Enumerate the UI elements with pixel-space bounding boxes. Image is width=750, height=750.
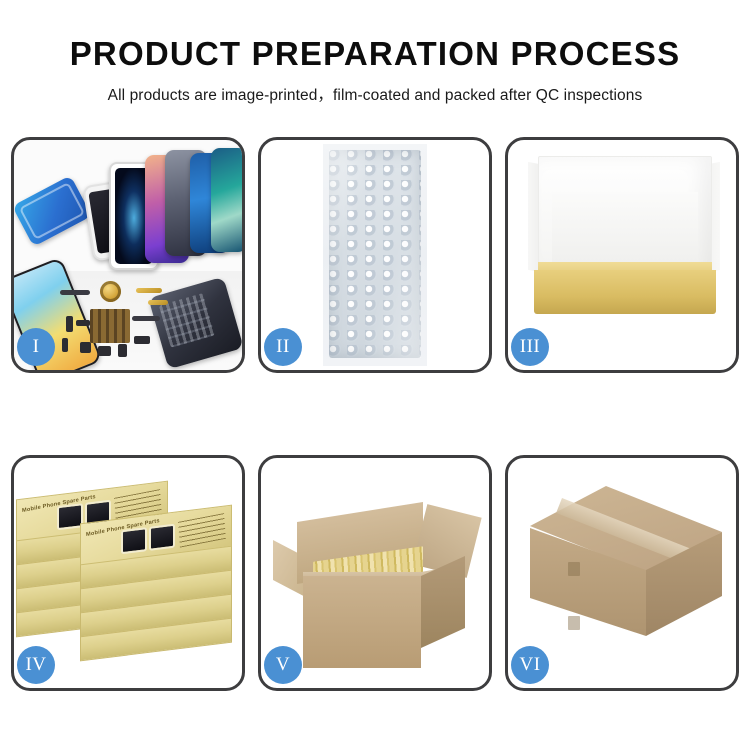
step-1-illustration: I	[14, 140, 242, 370]
gold-connector-part-icon	[136, 288, 162, 293]
volume-flex-part-icon	[76, 320, 90, 326]
carton-hand-hole-icon	[568, 616, 580, 630]
product-preparation-infographic: PRODUCT PREPARATION PROCESS All products…	[0, 0, 750, 750]
box-spec-lines	[178, 513, 226, 548]
antenna-flex-part-icon	[132, 316, 160, 321]
step-badge-4: IV	[17, 646, 55, 684]
step-4-illustration: Mobile Phone Spare Parts Mobile Phone Sp…	[14, 458, 242, 688]
screw-tray-part-icon	[90, 309, 130, 343]
step-panel-carton-sealed: VI	[505, 455, 739, 691]
bubble-wrap-texture-icon	[329, 150, 421, 358]
taptic-engine-part-icon	[98, 346, 111, 356]
step-badge-3: III	[511, 328, 549, 366]
carton-side-face-icon	[421, 556, 465, 648]
step-5-illustration: V	[261, 458, 489, 688]
flex-cable-part-icon	[60, 290, 90, 295]
box-art-screen-icon	[121, 527, 147, 554]
step-badge-1: I	[17, 328, 55, 366]
step-badge-2: II	[264, 328, 302, 366]
phone-teal-icon	[211, 148, 242, 252]
box-art-screen-icon	[149, 524, 175, 551]
step-2-illustration: II	[261, 140, 489, 370]
camera-module-part-icon	[80, 342, 91, 353]
carton-hand-hole-icon	[568, 562, 580, 576]
page-subtitle: All products are image-printed，film-coat…	[0, 72, 750, 105]
sim-tray-part-icon	[62, 338, 68, 352]
blue-adhesive-frame-icon	[14, 175, 92, 247]
step-panel-carton-loading: V	[258, 455, 492, 691]
process-steps-grid: I II III	[11, 137, 739, 691]
step-6-illustration: VI	[508, 458, 736, 688]
step-3-illustration: III	[508, 140, 736, 370]
step-panel-boxes-stacked: Mobile Phone Spare Parts Mobile Phone Sp…	[11, 455, 245, 691]
step-badge-5: V	[264, 646, 302, 684]
speaker-ring-part-icon	[100, 281, 121, 302]
box-lid-inner-panel	[552, 192, 698, 270]
step-badge-6: VI	[511, 646, 549, 684]
page-title: PRODUCT PREPARATION PROCESS	[0, 0, 750, 72]
carton-front-face-icon	[303, 576, 421, 668]
step-panel-products-and-spare-parts: I	[11, 137, 245, 373]
vibrator-part-icon	[118, 344, 127, 357]
gold-bracket-part-icon	[148, 300, 168, 305]
earpiece-part-icon	[134, 336, 150, 344]
step-panel-inner-box-packing: III	[505, 137, 739, 373]
step-panel-bubble-wrap-packing: II	[258, 137, 492, 373]
header: PRODUCT PREPARATION PROCESS All products…	[0, 0, 750, 105]
kraft-box-tray-icon	[534, 270, 716, 314]
button-flex-part-icon	[66, 316, 73, 332]
